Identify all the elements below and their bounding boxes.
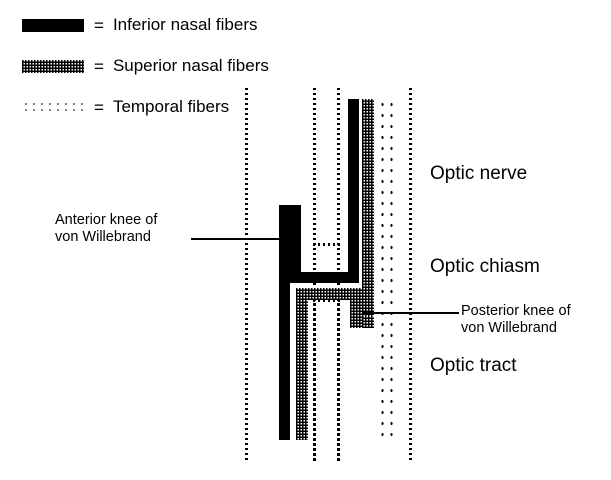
figure-canvas: = Inferior nasal fibers = Superior nasal… (0, 0, 611, 480)
inferior-nasal-segment-tract-descending (279, 205, 290, 440)
boundary-line-1 (245, 88, 248, 462)
legend-item-temporal: = Temporal fibers (22, 96, 229, 118)
anterior-channel-dot-right (337, 88, 340, 246)
legend-swatch-checkered-icon (22, 60, 84, 73)
annotation-posterior-knee-line1: Posterior knee of (461, 303, 571, 320)
posterior-channel-dot-left (313, 299, 316, 462)
inferior-nasal-segment-nerve-descending (348, 99, 359, 283)
superior-nasal-segment-nerve-descending (362, 99, 374, 316)
label-optic-nerve: Optic nerve (430, 163, 527, 185)
anterior-channel-dot-left (313, 88, 316, 246)
annotation-anterior-knee-line1: Anterior knee of (55, 212, 157, 229)
annotation-anterior-knee-line2: von Willebrand (55, 229, 151, 246)
posterior-channel-dot-right (337, 299, 340, 462)
temporal-fiber-tract (378, 99, 397, 440)
legend-equals-sign: = (94, 99, 104, 116)
legend-swatch-stippled-icon (22, 101, 84, 114)
legend-label-inferior-nasal: Inferior nasal fibers (113, 16, 258, 34)
superior-nasal-segment-tract-descending (296, 288, 308, 440)
legend-swatch-solid-icon (22, 19, 84, 32)
annotation-posterior-knee-line2: von Willebrand (461, 320, 557, 337)
legend-equals-sign: = (94, 58, 104, 75)
inferior-nasal-segment-knee-bottom (290, 272, 359, 283)
label-optic-chiasm: Optic chiasm (430, 256, 540, 278)
leader-line-anterior-knee (191, 238, 288, 240)
leader-line-posterior-knee (363, 312, 459, 314)
legend-label-superior-nasal: Superior nasal fibers (113, 57, 269, 75)
anterior-channel-dot-bottom (313, 243, 340, 246)
legend-equals-sign: = (94, 17, 104, 34)
legend-item-inferior-nasal: = Inferior nasal fibers (22, 14, 258, 36)
legend-label-temporal: Temporal fibers (113, 98, 229, 116)
label-optic-tract: Optic tract (430, 355, 517, 377)
legend-item-superior-nasal: = Superior nasal fibers (22, 55, 269, 77)
boundary-line-4 (409, 88, 412, 462)
